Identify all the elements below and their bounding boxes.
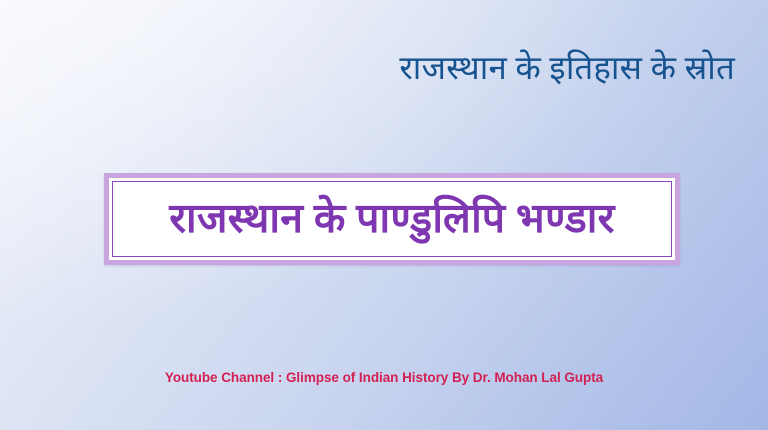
slide-heading: राजस्थान के इतिहास के स्रोत (0, 48, 735, 92)
channel-credit: Youtube Channel : Glimpse of Indian Hist… (0, 370, 768, 385)
title-box: राजस्थान के पाण्डुलिपि भण्डार (104, 173, 680, 265)
title-box-text: राजस्थान के पाण्डुलिपि भण्डार (163, 195, 620, 242)
title-box-inner-frame: राजस्थान के पाण्डुलिपि भण्डार (112, 181, 672, 257)
slide-canvas: राजस्थान के इतिहास के स्रोत राजस्थान के … (0, 0, 768, 430)
